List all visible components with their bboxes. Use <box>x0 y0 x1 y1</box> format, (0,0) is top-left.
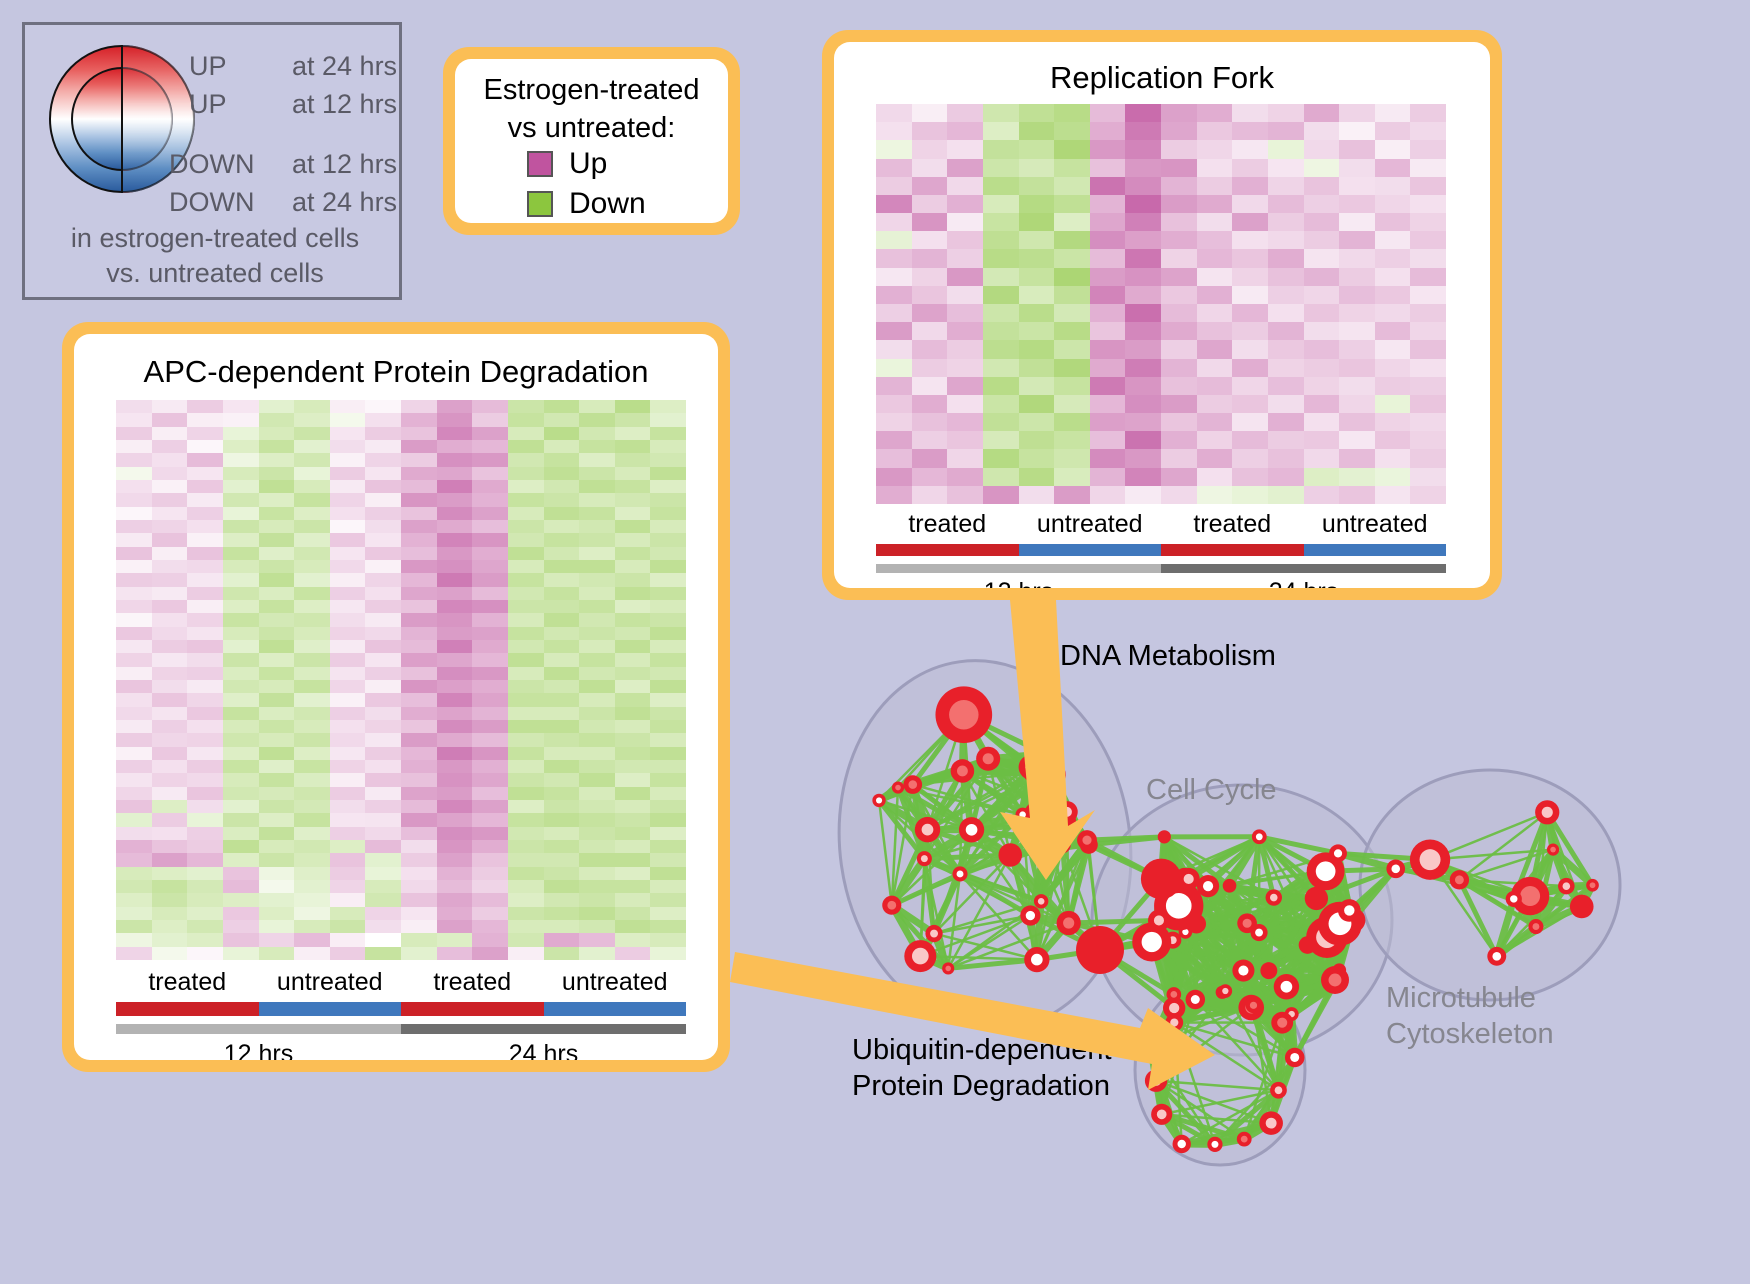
heatmap-cell <box>983 213 1019 231</box>
heatmap-cell <box>223 947 259 960</box>
heatmap-cell <box>1339 395 1375 413</box>
heatmap-cell <box>947 340 983 358</box>
network-node[interactable] <box>1187 914 1206 933</box>
heatmap-cell <box>223 520 259 533</box>
network-node[interactable] <box>1274 974 1299 999</box>
heatmap-cell <box>401 507 437 520</box>
heatmap-cell <box>1197 213 1233 231</box>
heatmap-cell <box>650 560 686 573</box>
heatmap-cell <box>1019 213 1055 231</box>
heatmap-cell <box>1125 359 1161 377</box>
network-node[interactable] <box>1034 894 1048 908</box>
network-node[interactable] <box>1570 895 1594 919</box>
heatmap-cell <box>544 573 580 586</box>
heatmap-cell <box>615 707 651 720</box>
heatmap-cell <box>650 907 686 920</box>
network-node[interactable] <box>976 747 1000 771</box>
heatmap-cell <box>1019 122 1055 140</box>
heatmap-cell <box>223 893 259 906</box>
network-node[interactable] <box>1207 1137 1222 1152</box>
network-node[interactable] <box>1141 859 1182 900</box>
heatmap-cell <box>401 547 437 560</box>
heatmap-cell <box>259 440 295 453</box>
heatmap-cell <box>152 440 188 453</box>
heatmap-cell <box>259 467 295 480</box>
cluster-label-dna-metabolism: DNA Metabolism <box>1060 638 1276 674</box>
network-node[interactable] <box>1506 891 1522 907</box>
heatmap-cell <box>579 667 615 680</box>
network-node[interactable] <box>1246 997 1262 1013</box>
heatmap-cell <box>544 867 580 880</box>
heatmap-cell <box>330 933 366 946</box>
up-color-swatch <box>527 151 553 177</box>
heatmap-cell <box>1304 322 1340 340</box>
heatmap-cell <box>330 707 366 720</box>
heatmap-cell <box>472 920 508 933</box>
heatmap-cell <box>259 533 295 546</box>
heatmap-cell <box>876 122 912 140</box>
heatmap-cell <box>544 853 580 866</box>
heatmap-cell <box>508 827 544 840</box>
heatmap-cell <box>223 573 259 586</box>
heatmap-cell <box>1161 359 1197 377</box>
heatmap-cell <box>912 177 948 195</box>
heatmap-cell <box>401 880 437 893</box>
heatmap-cell <box>437 640 473 653</box>
network-node[interactable] <box>1158 830 1171 843</box>
heatmap-cell <box>365 467 401 480</box>
heatmap-cell <box>472 627 508 640</box>
heatmap-cell <box>876 268 912 286</box>
network-node[interactable] <box>872 794 885 807</box>
heatmap-cell <box>223 440 259 453</box>
heatmap-cell <box>579 453 615 466</box>
heatmap-cell <box>365 480 401 493</box>
network-node[interactable] <box>998 843 1022 867</box>
heatmap-cell <box>947 486 983 504</box>
heatmap-cell <box>615 800 651 813</box>
network-node[interactable] <box>1321 966 1349 994</box>
heatmap-cell <box>650 893 686 906</box>
heatmap-cell <box>1410 486 1446 504</box>
heatmap-cell <box>472 520 508 533</box>
heatmap-cell <box>116 533 152 546</box>
heatmap-cell <box>1161 286 1197 304</box>
heatmap-cell <box>187 653 223 666</box>
heatmap-cell <box>365 947 401 960</box>
heatmap-cell <box>579 733 615 746</box>
replication-fork-heatmap <box>876 104 1446 504</box>
heatmap-cell <box>330 427 366 440</box>
heatmap-cell <box>472 947 508 960</box>
heatmap-cell <box>579 707 615 720</box>
heatmap-cell <box>259 547 295 560</box>
network-node[interactable] <box>1250 924 1267 941</box>
heatmap-cell <box>330 827 366 840</box>
network-node[interactable] <box>1547 844 1559 856</box>
heatmap-cell <box>294 680 330 693</box>
heatmap-cell <box>1161 377 1197 395</box>
heatmap-cell <box>223 627 259 640</box>
heatmap-cell <box>1304 431 1340 449</box>
heatmap-cell <box>508 800 544 813</box>
heatmap-cell <box>401 480 437 493</box>
heatmap-cell <box>437 440 473 453</box>
heatmap-cell <box>116 467 152 480</box>
heatmap-cell <box>437 893 473 906</box>
heatmap-cell <box>152 533 188 546</box>
heatmap-cell <box>615 840 651 853</box>
network-node[interactable] <box>1139 1034 1162 1057</box>
network-node[interactable] <box>1260 962 1277 979</box>
heatmap-cell <box>1375 286 1411 304</box>
heatmap-cell <box>1125 304 1161 322</box>
heatmap-cell <box>1161 213 1197 231</box>
network-node[interactable] <box>1173 1135 1191 1153</box>
heatmap-cell <box>1375 431 1411 449</box>
heatmap-cell <box>116 747 152 760</box>
heatmap-cell <box>472 587 508 600</box>
network-node[interactable] <box>917 851 932 866</box>
heatmap-cell <box>1375 104 1411 122</box>
network-node[interactable] <box>959 817 984 842</box>
network-node[interactable] <box>1024 947 1049 972</box>
network-node[interactable] <box>1329 844 1347 862</box>
heatmap-cell <box>1161 431 1197 449</box>
heatmap-cell <box>116 720 152 733</box>
heatmap-cell <box>437 840 473 853</box>
heatmap-cell <box>615 640 651 653</box>
heatmap-cell <box>1268 340 1304 358</box>
heatmap-cell <box>1375 468 1411 486</box>
heatmap-cell <box>1161 340 1197 358</box>
heatmap-cell <box>187 627 223 640</box>
heatmap-cell <box>187 507 223 520</box>
network-node[interactable] <box>1034 765 1053 784</box>
heatmap-cell <box>1090 395 1126 413</box>
heatmap-cell <box>401 947 437 960</box>
heatmap-cell <box>615 507 651 520</box>
heatmap-cell <box>365 547 401 560</box>
heatmap-cell <box>1019 359 1055 377</box>
network-node[interactable] <box>925 925 942 942</box>
heatmap-cell <box>437 920 473 933</box>
network-node[interactable] <box>1237 1132 1252 1147</box>
heatmap-cell <box>116 547 152 560</box>
heatmap-cell <box>876 449 912 467</box>
heatmap-cell <box>330 840 366 853</box>
heatmap-cell <box>330 693 366 706</box>
heatmap-cell <box>152 520 188 533</box>
heatmap-cell <box>294 587 330 600</box>
heatmap-cell <box>1054 122 1090 140</box>
heatmap-cell <box>1268 449 1304 467</box>
heatmap-cell <box>365 707 401 720</box>
heatmap-cell <box>1232 413 1268 431</box>
group-label: untreated <box>544 968 687 997</box>
heatmap-cell <box>1197 340 1233 358</box>
heatmap-cell <box>1232 213 1268 231</box>
network-node[interactable] <box>1165 1014 1183 1032</box>
heatmap-cell <box>330 640 366 653</box>
heatmap-cell <box>259 453 295 466</box>
heatmap-cell <box>508 440 544 453</box>
heatmap-cell <box>401 813 437 826</box>
network-node[interactable] <box>1586 879 1599 892</box>
heatmap-cell <box>259 680 295 693</box>
heatmap-cell <box>615 667 651 680</box>
network-node[interactable] <box>1487 947 1506 966</box>
heatmap-cell <box>472 413 508 426</box>
network-node[interactable] <box>1186 990 1206 1010</box>
network-node[interactable] <box>1219 984 1233 998</box>
heatmap-cell <box>508 413 544 426</box>
heatmap-cell <box>508 867 544 880</box>
heatmap-cell <box>1339 213 1375 231</box>
network-node[interactable] <box>1305 887 1328 910</box>
heatmap-cell <box>650 853 686 866</box>
network-node[interactable] <box>1145 1069 1167 1091</box>
heatmap-cell <box>615 920 651 933</box>
heatmap-cell <box>1019 195 1055 213</box>
network-node[interactable] <box>1386 859 1405 878</box>
network-node[interactable] <box>1270 1082 1287 1099</box>
heatmap-cell <box>259 507 295 520</box>
heatmap-cell <box>947 286 983 304</box>
network-node[interactable] <box>1057 911 1081 935</box>
heatmap-cell <box>1197 268 1233 286</box>
legend-value: at 12 hrs <box>292 149 397 180</box>
heatmap-cell <box>508 840 544 853</box>
replication-fork-time-bars <box>876 564 1446 573</box>
heatmap-cell <box>1090 268 1126 286</box>
heatmap-cell <box>1019 468 1055 486</box>
network-node[interactable] <box>1035 744 1054 763</box>
heatmap-cell <box>1197 104 1233 122</box>
heatmap-cell <box>187 533 223 546</box>
heatmap-cell <box>401 640 437 653</box>
heatmap-cell <box>187 560 223 573</box>
network-node[interactable] <box>951 759 975 783</box>
heatmap-cell <box>152 920 188 933</box>
heatmap-cell <box>437 627 473 640</box>
heatmap-cell <box>472 453 508 466</box>
network-node[interactable] <box>1077 830 1097 850</box>
heatmap-cell <box>259 493 295 506</box>
network-node[interactable] <box>1266 889 1282 905</box>
heatmap-cell <box>223 920 259 933</box>
heatmap-cell <box>223 640 259 653</box>
heatmap-cell <box>330 680 366 693</box>
heatmap-cell <box>365 533 401 546</box>
heatmap-cell <box>1375 340 1411 358</box>
heatmap-cell <box>508 520 544 533</box>
heatmap-cell <box>1410 359 1446 377</box>
network-node[interactable] <box>1252 829 1267 844</box>
heatmap-cell <box>615 733 651 746</box>
network-node[interactable] <box>1271 1012 1293 1034</box>
heatmap-cell <box>876 195 912 213</box>
heatmap-cell <box>508 747 544 760</box>
heatmap-cell <box>472 573 508 586</box>
heatmap-cell <box>259 827 295 840</box>
heatmap-cell <box>983 140 1019 158</box>
heatmap-cell <box>544 587 580 600</box>
heatmap-cell <box>365 680 401 693</box>
heatmap-cell <box>508 667 544 680</box>
heatmap-cell <box>983 413 1019 431</box>
heatmap-cell <box>294 640 330 653</box>
heatmap-cell <box>1054 177 1090 195</box>
network-node[interactable] <box>1056 801 1078 823</box>
network-node[interactable] <box>1535 800 1559 824</box>
heatmap-cell <box>365 507 401 520</box>
time-label: 12 hrs <box>116 1040 401 1060</box>
heatmap-cell <box>1197 159 1233 177</box>
network-node[interactable] <box>1558 878 1575 895</box>
heatmap-cell <box>1375 304 1411 322</box>
heatmap-cell <box>401 800 437 813</box>
network-node[interactable] <box>1285 1048 1305 1068</box>
heatmap-cell <box>437 853 473 866</box>
network-node[interactable] <box>952 866 967 881</box>
network-node[interactable] <box>1197 875 1219 897</box>
network-node[interactable] <box>1410 839 1450 879</box>
heatmap-cell <box>983 122 1019 140</box>
network-node[interactable] <box>1232 959 1254 981</box>
heatmap-cell <box>330 720 366 733</box>
network-node[interactable] <box>1338 899 1361 922</box>
heatmap-cell <box>508 707 544 720</box>
heatmap-cell <box>1232 195 1268 213</box>
heatmap-cell <box>223 827 259 840</box>
heatmap-cell <box>330 773 366 786</box>
heatmap-cell <box>1268 431 1304 449</box>
heatmap-cell <box>1125 340 1161 358</box>
heatmap-cell <box>437 560 473 573</box>
heatmap-cell <box>472 493 508 506</box>
heatmap-cell <box>401 693 437 706</box>
heatmap-cell <box>330 880 366 893</box>
heatmap-cell <box>508 493 544 506</box>
network-node[interactable] <box>903 775 922 794</box>
heatmap-cell <box>650 707 686 720</box>
heatmap-cell <box>187 933 223 946</box>
heatmap-cell <box>615 427 651 440</box>
heatmap-cell <box>330 653 366 666</box>
network-node[interactable] <box>892 781 904 793</box>
heatmap-cell <box>544 707 580 720</box>
heatmap-cell <box>650 800 686 813</box>
heatmap-cell <box>579 440 615 453</box>
heatmap-cell <box>1304 449 1340 467</box>
heatmap-cell <box>579 480 615 493</box>
network-node[interactable] <box>942 962 954 974</box>
heatmap-cell <box>365 853 401 866</box>
heatmap-cell <box>508 680 544 693</box>
heatmap-cell <box>508 733 544 746</box>
network-node[interactable] <box>1015 808 1029 822</box>
heatmap-cell <box>472 813 508 826</box>
heatmap-cell <box>259 413 295 426</box>
circle-legend-footer: in estrogen-treated cells vs. untreated … <box>25 221 405 290</box>
heatmap-cell <box>1232 449 1268 467</box>
updown-legend-panel: Estrogen-treated vs untreated: Up Down <box>443 47 740 235</box>
network-node[interactable] <box>1223 879 1237 893</box>
heatmap-cell <box>1054 249 1090 267</box>
replication-fork-group-labels: treateduntreatedtreateduntreated <box>876 510 1446 539</box>
group-color-bar <box>544 1002 687 1016</box>
heatmap-cell <box>223 613 259 626</box>
network-node[interactable] <box>1076 926 1124 974</box>
heatmap-cell <box>876 340 912 358</box>
heatmap-cell <box>1375 249 1411 267</box>
heatmap-cell <box>1197 304 1233 322</box>
network-node[interactable] <box>1151 1104 1172 1125</box>
heatmap-cell <box>912 377 948 395</box>
heatmap-cell <box>983 340 1019 358</box>
group-color-bar <box>401 1002 544 1016</box>
heatmap-cell <box>650 533 686 546</box>
network-node[interactable] <box>1259 1111 1283 1135</box>
heatmap-cell <box>294 867 330 880</box>
heatmap-cell <box>1232 159 1268 177</box>
heatmap-cell <box>116 600 152 613</box>
heatmap-cell <box>1375 195 1411 213</box>
heatmap-cell <box>472 400 508 413</box>
heatmap-cell <box>259 587 295 600</box>
heatmap-cell <box>947 449 983 467</box>
heatmap-cell <box>223 533 259 546</box>
heatmap-cell <box>259 947 295 960</box>
heatmap-cell <box>508 560 544 573</box>
heatmap-cell <box>1375 122 1411 140</box>
heatmap-cell <box>1375 140 1411 158</box>
heatmap-cell <box>472 720 508 733</box>
heatmap-cell <box>1054 286 1090 304</box>
network-node[interactable] <box>882 896 901 915</box>
network-node[interactable] <box>1528 919 1543 934</box>
heatmap-cell <box>1090 431 1126 449</box>
heatmap-cell <box>650 667 686 680</box>
heatmap-cell <box>508 587 544 600</box>
heatmap-cell <box>401 520 437 533</box>
heatmap-cell <box>472 600 508 613</box>
network-node[interactable] <box>904 940 936 972</box>
heatmap-cell <box>116 680 152 693</box>
heatmap-cell <box>187 707 223 720</box>
network-node[interactable] <box>1167 987 1182 1002</box>
heatmap-cell <box>294 413 330 426</box>
heatmap-cell <box>983 159 1019 177</box>
heatmap-cell <box>1125 213 1161 231</box>
heatmap-cell <box>912 195 948 213</box>
apc-group-labels: treateduntreatedtreateduntreated <box>116 968 686 997</box>
heatmap-cell <box>437 693 473 706</box>
network-node[interactable] <box>935 686 992 743</box>
heatmap-cell <box>365 907 401 920</box>
network-node[interactable] <box>1148 910 1170 932</box>
network-node[interactable] <box>1450 870 1469 889</box>
heatmap-cell <box>330 453 366 466</box>
heatmap-cell <box>294 947 330 960</box>
heatmap-cell <box>579 587 615 600</box>
heatmap-cell <box>1090 322 1126 340</box>
heatmap-cell <box>1054 431 1090 449</box>
network-node[interactable] <box>915 817 940 842</box>
network-node[interactable] <box>1020 905 1040 925</box>
heatmap-cell <box>876 213 912 231</box>
